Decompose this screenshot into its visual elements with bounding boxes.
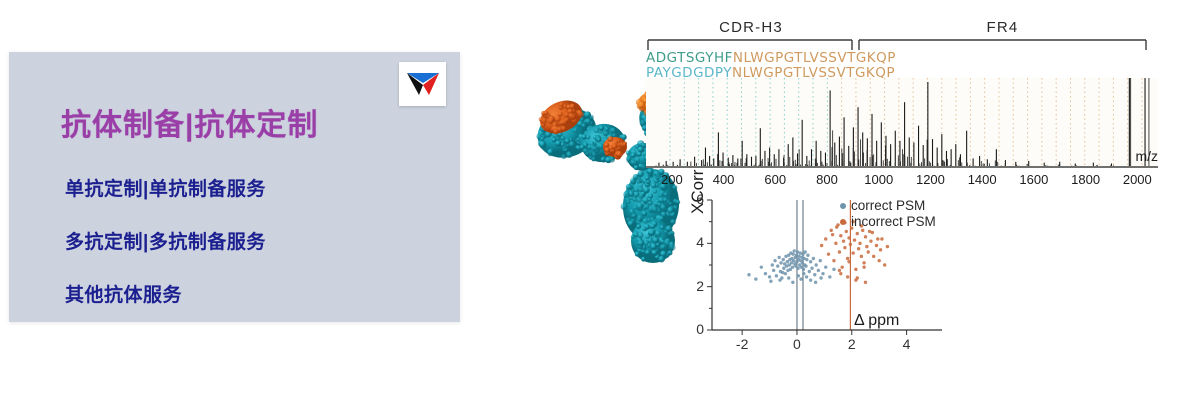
ms-tick-600: 600	[764, 172, 786, 187]
scatter-x-tick--2: -2	[736, 336, 748, 352]
ms-tick-1400: 1400	[968, 172, 997, 187]
legend-dot-icon	[840, 219, 846, 225]
legend-item-incorrect-psm: incorrect PSM	[840, 214, 936, 230]
mass-spectrum-svg	[646, 78, 1158, 168]
company-logo	[399, 62, 446, 106]
scatter-x-tick-0: 0	[793, 336, 801, 352]
scatter-y-tick-2: 2	[690, 278, 704, 294]
promo-link-mab-custom[interactable]: 单抗定制|单抗制备服务	[65, 174, 266, 201]
ms-tick-1000: 1000	[864, 172, 893, 187]
region-label-fr4: FR4	[859, 19, 1146, 36]
scientific-figure: CDR-H3 FR4 ADGTSGYHFNLWGPGTLVSSVTGKQP PA…	[500, 0, 1200, 400]
scatter-x-tick-4: 4	[903, 336, 911, 352]
ms-tick-2000: 2000	[1123, 172, 1152, 187]
page-title: 抗体制备|抗体定制	[61, 100, 318, 144]
legend-label: correct PSM	[851, 198, 925, 214]
ms-tick-1200: 1200	[916, 172, 945, 187]
promo-link-other-services[interactable]: 其他抗体服务	[65, 280, 182, 307]
legend-label: incorrect PSM	[851, 214, 936, 230]
sequence-fr4-top: NLWGPGTLVSSVTGKQP	[733, 50, 896, 66]
mass-spectrum-axis: m/z 200400600800100012001400160018002000	[646, 166, 1158, 192]
promo-link-pab-custom[interactable]: 多抗定制|多抗制备服务	[65, 227, 266, 254]
sequence-cdr-top: ADGTSGYHF	[646, 50, 733, 66]
psm-scatter-chart: XCorr Δ ppm 0246 -2024 correct PSMincorr…	[682, 192, 942, 362]
logo-chevron-icon	[399, 62, 446, 106]
sequence-row-top: ADGTSGYHFNLWGPGTLVSSVTGKQP	[646, 51, 896, 66]
scatter-y-tick-6: 6	[690, 191, 704, 207]
ms-tick-1800: 1800	[1071, 172, 1100, 187]
mass-spectrum-chart	[646, 78, 1158, 168]
ms-tick-200: 200	[661, 172, 683, 187]
scatter-legend: correct PSMincorrect PSM	[840, 198, 936, 230]
scatter-y-tick-4: 4	[690, 234, 704, 250]
promo-panel: 抗体制备|抗体定制 单抗定制|单抗制备服务 多抗定制|多抗制备服务 其他抗体服务	[9, 52, 460, 322]
region-label-cdr-h3: CDR-H3	[648, 19, 854, 36]
ms-tick-1600: 1600	[1019, 172, 1048, 187]
scatter-x-tick-2: 2	[848, 336, 856, 352]
ms-tick-400: 400	[713, 172, 735, 187]
ms-axis-label: m/z	[1135, 148, 1158, 164]
sequence-annotation-block: CDR-H3 FR4 ADGTSGYHFNLWGPGTLVSSVTGKQP PA…	[646, 18, 1156, 80]
legend-dot-icon	[840, 203, 846, 209]
ms-tick-800: 800	[816, 172, 838, 187]
scatter-y-tick-0: 0	[690, 321, 704, 337]
legend-item-correct-psm: correct PSM	[840, 198, 936, 214]
